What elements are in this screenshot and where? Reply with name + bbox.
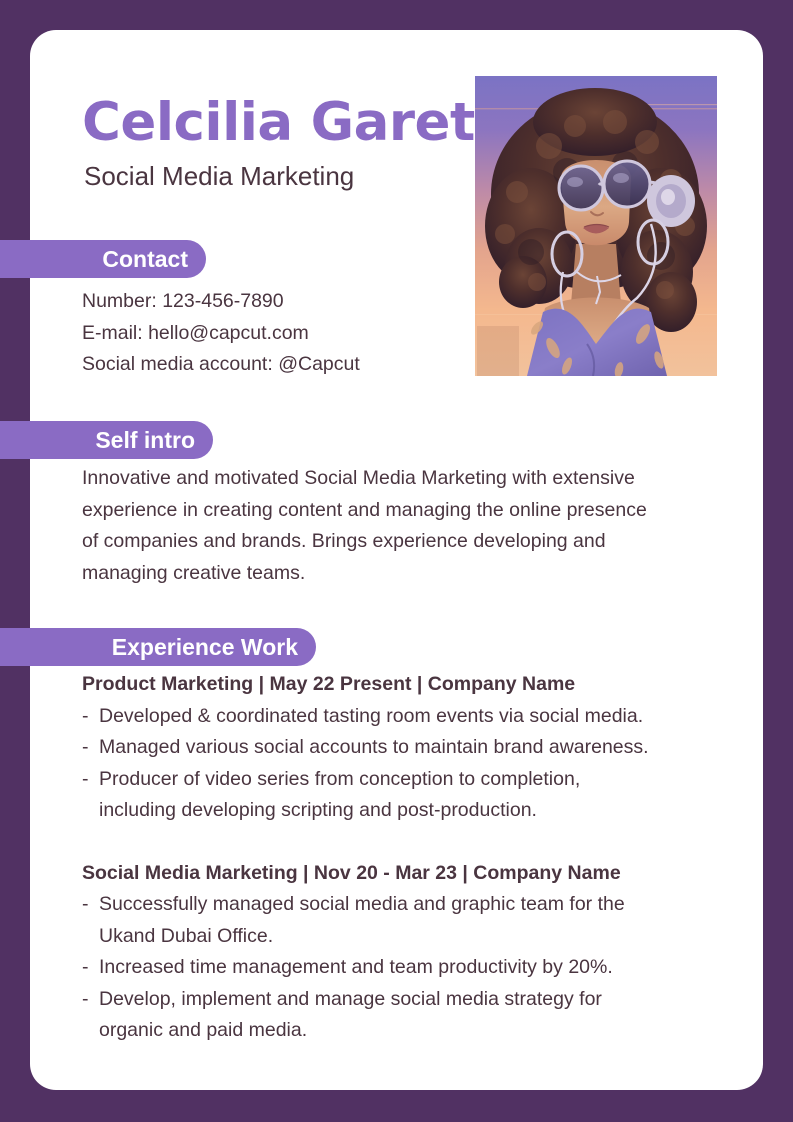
bullet-line: organic and paid media.: [99, 1015, 727, 1047]
bullet-line: Developed & coordinated tasting room eve…: [99, 701, 727, 733]
self-intro-line: Innovative and motivated Social Media Ma…: [82, 463, 722, 495]
job-title: Product Marketing | May 22 Present | Com…: [82, 669, 727, 701]
job-bullet: - Increased time management and team pro…: [82, 952, 727, 984]
contact-email: E-mail: hello@capcut.com: [82, 318, 360, 350]
experience-entry: Social Media Marketing | Nov 20 - Mar 23…: [82, 858, 727, 1047]
section-heading-self-intro: Self intro: [0, 421, 213, 459]
bullet-line: Ukand Dubai Office.: [99, 921, 727, 953]
self-intro-text: Innovative and motivated Social Media Ma…: [82, 463, 722, 589]
job-bullet: - Develop, implement and manage social m…: [82, 984, 727, 1047]
resume-page: Celcilia Garet Social Media Marketing: [0, 0, 793, 1122]
contact-social: Social media account: @Capcut: [82, 349, 360, 381]
contact-phone: Number: 123-456-7890: [82, 286, 360, 318]
experience-heading-label: Experience Work: [112, 634, 298, 661]
section-heading-contact: Contact: [0, 240, 206, 278]
self-intro-line: experience in creating content and manag…: [82, 495, 722, 527]
job-bullet: - Developed & coordinated tasting room e…: [82, 701, 727, 733]
bullet-marker: -: [82, 701, 89, 733]
bullet-line: Increased time management and team produ…: [99, 952, 727, 984]
bullet-line: Managed various social accounts to maint…: [99, 732, 727, 764]
bullet-marker: -: [82, 984, 89, 1016]
bullet-marker: -: [82, 732, 89, 764]
page-title: Celcilia Garet: [82, 92, 475, 153]
job-bullet: - Successfully managed social media and …: [82, 889, 727, 952]
self-intro-heading-label: Self intro: [95, 427, 195, 454]
contact-details: Number: 123-456-7890 E-mail: hello@capcu…: [82, 286, 360, 381]
bullet-line: Successfully managed social media and gr…: [99, 889, 727, 921]
job-role-subtitle: Social Media Marketing: [84, 161, 354, 192]
bullet-line: including developing scripting and post-…: [99, 795, 727, 827]
bullet-marker: -: [82, 952, 89, 984]
self-intro-line: of companies and brands. Brings experien…: [82, 526, 722, 558]
job-bullet: - Managed various social accounts to mai…: [82, 732, 727, 764]
job-bullet: - Producer of video series from concepti…: [82, 764, 727, 827]
bullet-line: Producer of video series from conception…: [99, 764, 727, 796]
experience-list: Product Marketing | May 22 Present | Com…: [82, 669, 727, 1047]
experience-entry: Product Marketing | May 22 Present | Com…: [82, 669, 727, 827]
bullet-marker: -: [82, 764, 89, 796]
contact-heading-label: Contact: [102, 246, 188, 273]
resume-card: Celcilia Garet Social Media Marketing: [30, 30, 763, 1090]
bullet-marker: -: [82, 889, 89, 921]
job-title: Social Media Marketing | Nov 20 - Mar 23…: [82, 858, 727, 890]
section-heading-experience: Experience Work: [0, 628, 316, 666]
profile-photo: [475, 76, 717, 376]
self-intro-line: managing creative teams.: [82, 558, 722, 590]
bullet-line: Develop, implement and manage social med…: [99, 984, 727, 1016]
